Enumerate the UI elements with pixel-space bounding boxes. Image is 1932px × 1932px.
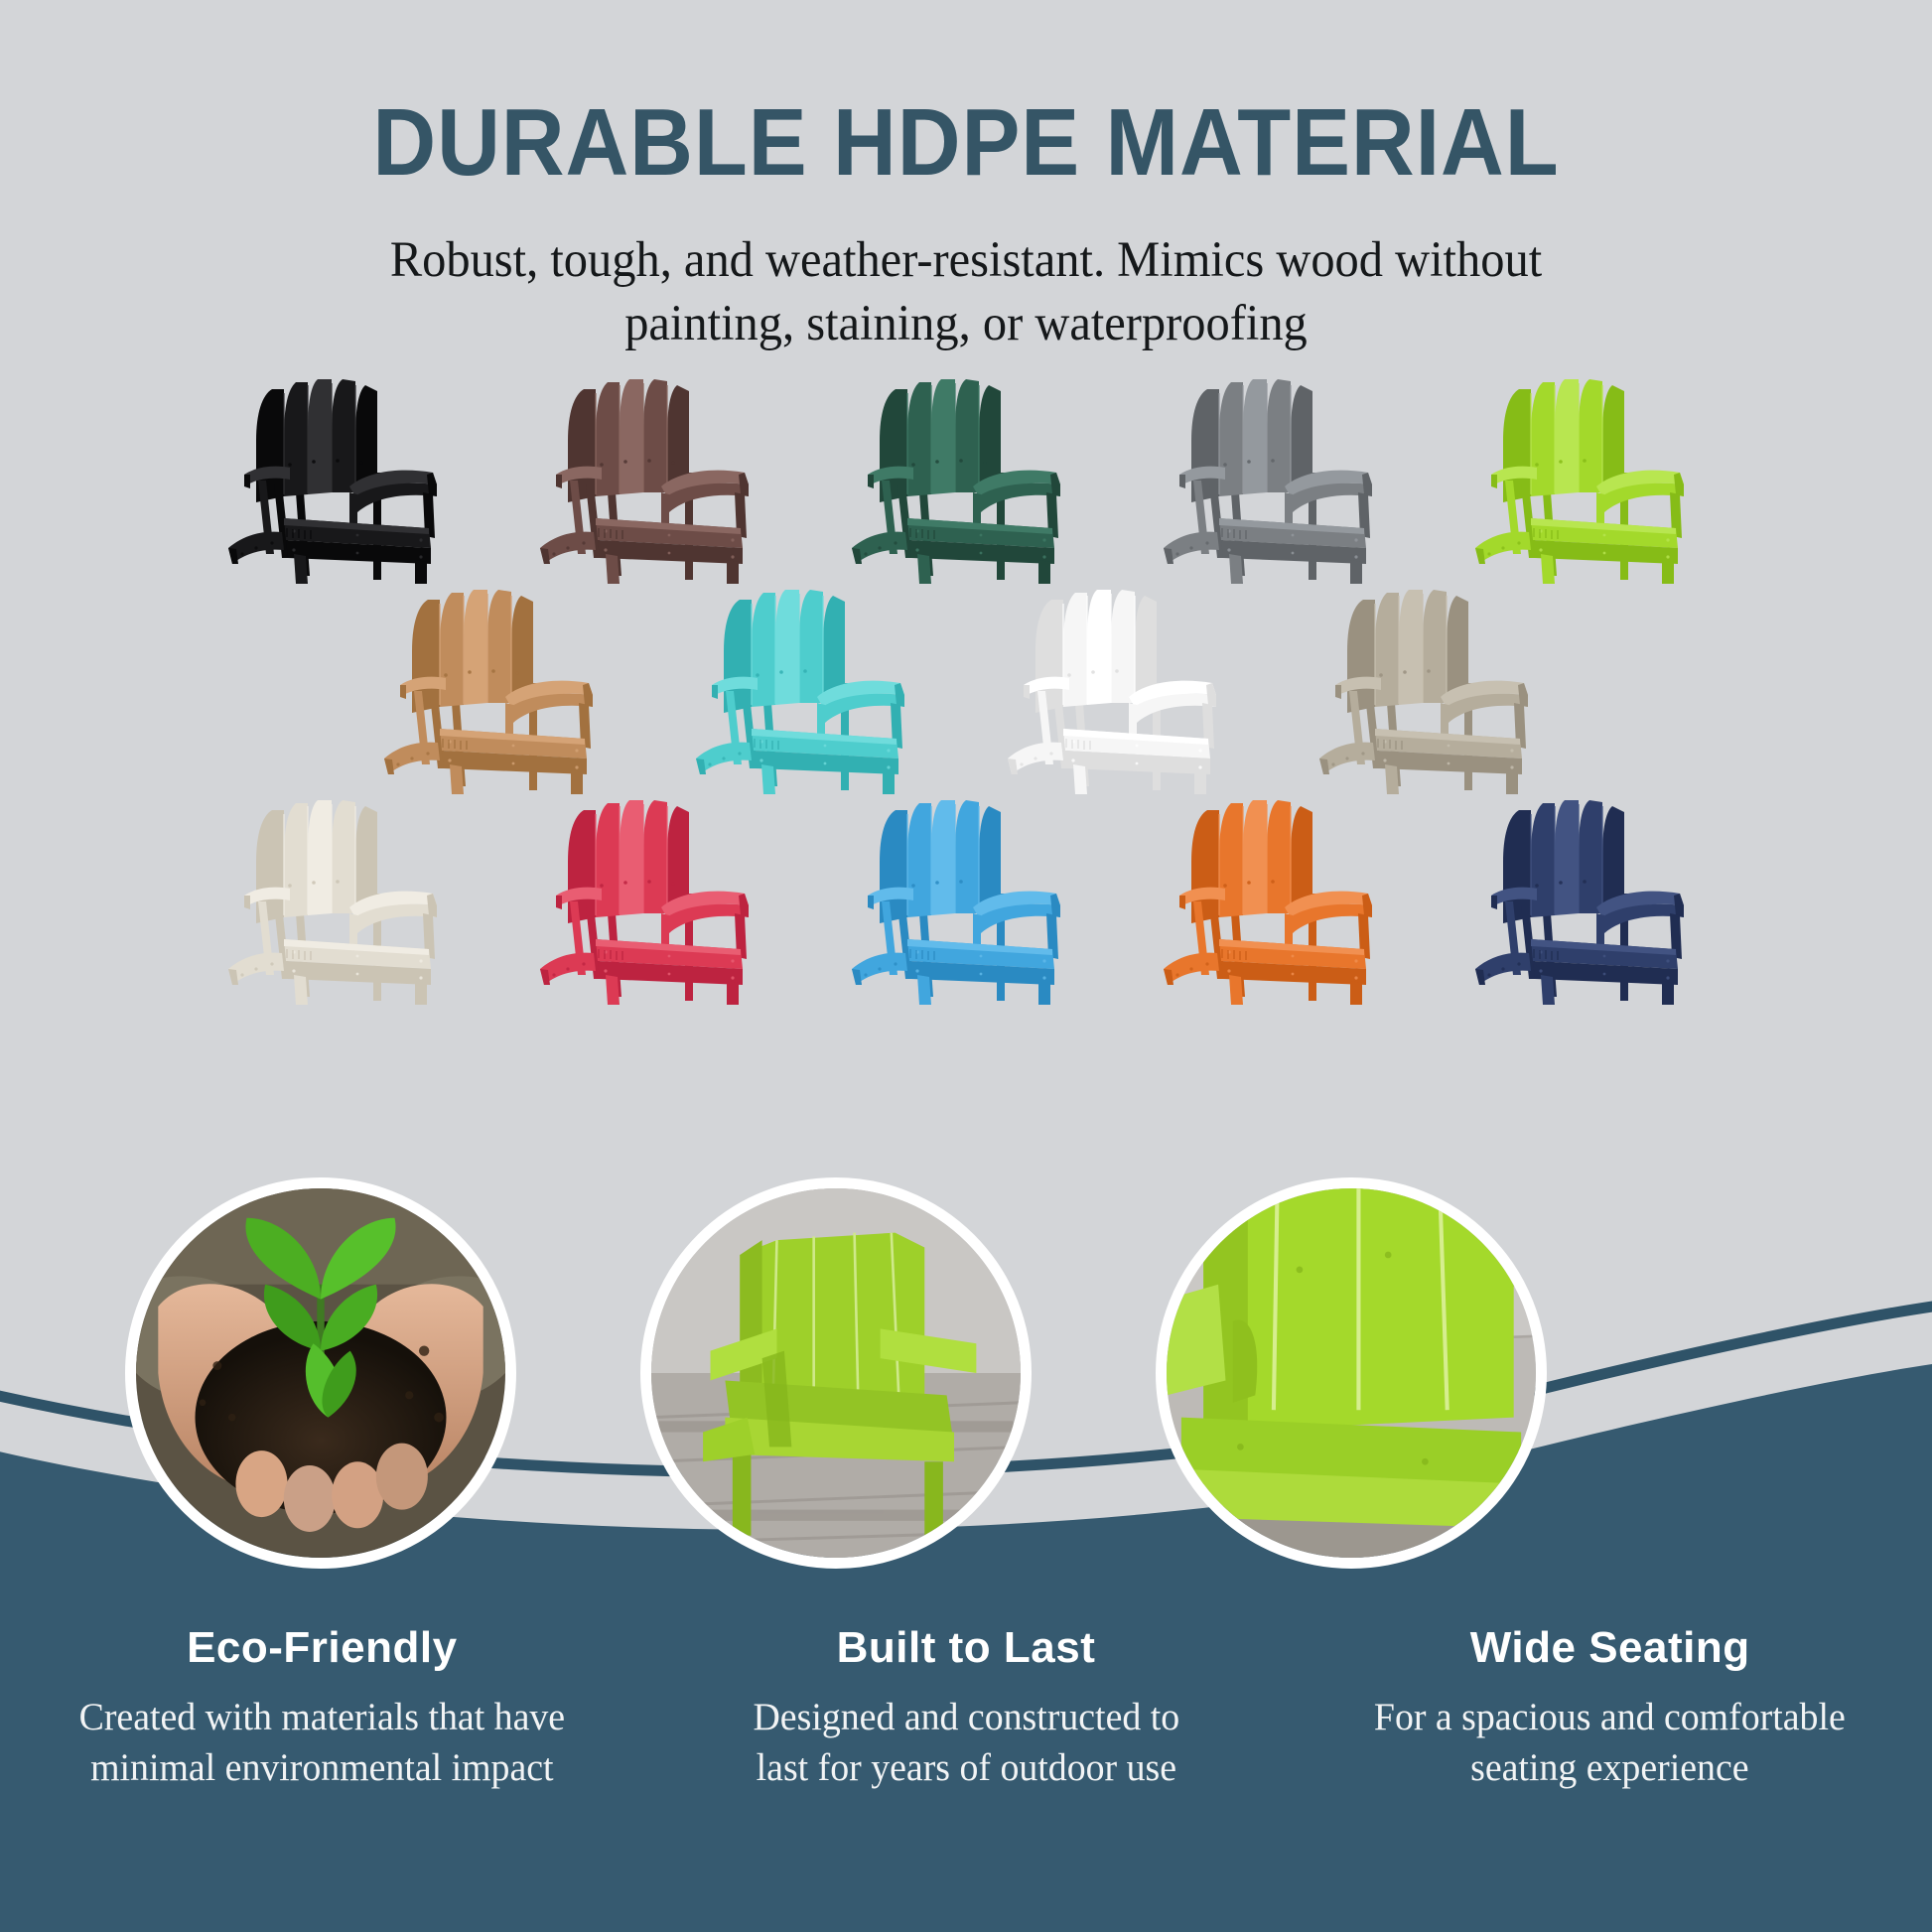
page-title: DURABLE HDPE MATERIAL <box>77 0 1855 191</box>
chair-swatch-orange[interactable] <box>1134 790 1422 1007</box>
adirondack-chair-icon <box>510 790 798 1007</box>
adirondack-chair-icon <box>199 369 486 586</box>
chair-swatch-forest-green[interactable] <box>822 369 1110 586</box>
feature-description-line-1: For a spacious and comfortable <box>1374 1696 1846 1738</box>
chair-swatch-gray[interactable] <box>1134 369 1422 586</box>
photo-circle-wide-seating <box>1156 1177 1547 1569</box>
chair-swatch-lime-green[interactable] <box>1446 369 1733 586</box>
adirondack-chair-icon <box>510 369 798 586</box>
chair-color-grid <box>0 369 1932 1007</box>
feature-heading: Eco-Friendly <box>26 1626 619 1670</box>
chair-swatch-navy[interactable] <box>1446 790 1733 1007</box>
adirondack-chair-icon <box>666 580 954 796</box>
infographic-root: DURABLE HDPE MATERIAL Robust, tough, and… <box>0 0 1932 1932</box>
adirondack-chair-icon <box>1134 369 1422 586</box>
adirondack-chair-icon <box>822 369 1110 586</box>
feature-eco-friendly: Eco-Friendly Created with materials that… <box>0 1626 644 1794</box>
adirondack-chair-icon <box>1134 790 1422 1007</box>
feature-built-to-last: Built to Last Designed and constructed t… <box>644 1626 1289 1794</box>
adirondack-chair-icon <box>199 790 486 1007</box>
feature-description-line-2: minimal environmental impact <box>90 1746 553 1789</box>
chair-swatch-brown[interactable] <box>510 369 798 586</box>
feature-heading: Built to Last <box>670 1626 1263 1670</box>
feature-description: For a spacious and comfortable seating e… <box>1322 1692 1897 1794</box>
feature-heading: Wide Seating <box>1313 1626 1906 1670</box>
feature-description: Designed and constructed to last for yea… <box>679 1692 1254 1794</box>
adirondack-chair-icon <box>1446 369 1733 586</box>
adirondack-chair-icon <box>1446 790 1733 1007</box>
chair-swatch-teak[interactable] <box>354 580 642 796</box>
adirondack-chair-icon <box>354 580 642 796</box>
photo-circle-eco-friendly <box>125 1177 516 1569</box>
feature-description: Created with materials that have minimal… <box>35 1692 610 1794</box>
chair-row-2 <box>0 580 1932 796</box>
subtitle-line-2: painting, staining, or waterproofing <box>624 296 1308 351</box>
feature-description-line-1: Created with materials that have <box>79 1696 566 1738</box>
chair-row-3 <box>0 790 1932 1007</box>
chair-swatch-red[interactable] <box>510 790 798 1007</box>
feature-description-line-1: Designed and constructed to <box>753 1696 1179 1738</box>
chair-swatch-gray-beige[interactable] <box>1290 580 1578 796</box>
feature-photo-circles <box>0 1177 1932 1535</box>
adirondack-chair-icon <box>978 580 1266 796</box>
chair-swatch-turquoise[interactable] <box>666 580 954 796</box>
chair-swatch-light-blue[interactable] <box>822 790 1110 1007</box>
chair-row-1 <box>0 369 1932 586</box>
subtitle-line-1: Robust, tough, and weather-resistant. Mi… <box>390 232 1542 288</box>
chair-swatch-ivory[interactable] <box>199 790 486 1007</box>
photo-circle-built-to-last <box>640 1177 1032 1569</box>
header: DURABLE HDPE MATERIAL Robust, tough, and… <box>0 0 1932 356</box>
feature-description-line-2: last for years of outdoor use <box>756 1746 1175 1789</box>
chair-swatch-black[interactable] <box>199 369 486 586</box>
adirondack-chair-icon <box>822 790 1110 1007</box>
feature-captions: Eco-Friendly Created with materials that… <box>0 1626 1932 1794</box>
feature-description-line-2: seating experience <box>1470 1746 1748 1789</box>
chair-swatch-white[interactable] <box>978 580 1266 796</box>
subtitle: Robust, tough, and weather-resistant. Mi… <box>49 191 1884 356</box>
feature-wide-seating: Wide Seating For a spacious and comforta… <box>1288 1626 1932 1794</box>
adirondack-chair-icon <box>1290 580 1578 796</box>
